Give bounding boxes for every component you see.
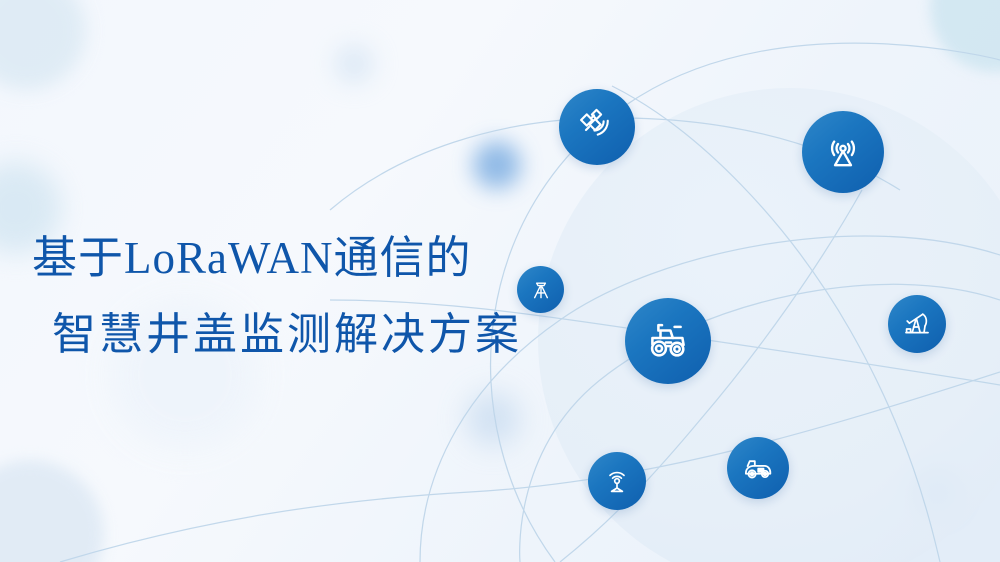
title-block: 基于LoRaWAN通信的 智慧井盖监测解决方案	[30, 228, 590, 366]
wireless-sensor-icon	[601, 465, 633, 497]
radio-tower-icon	[821, 130, 865, 174]
node-pumpjack[interactable]	[888, 295, 946, 353]
tractor-icon	[644, 317, 692, 365]
node-mower[interactable]	[727, 437, 789, 499]
node-antenna[interactable]	[802, 111, 884, 193]
node-sensor[interactable]	[588, 452, 646, 510]
title-line-2: 智慧井盖监测解决方案	[52, 304, 590, 366]
title-slide: 基于LoRaWAN通信的 智慧井盖监测解决方案	[0, 0, 1000, 562]
node-tractor[interactable]	[625, 298, 711, 384]
node-satellite[interactable]	[559, 89, 635, 165]
satellite-icon	[577, 107, 617, 147]
title-line-1: 基于LoRaWAN通信的	[32, 228, 590, 288]
robotic-mower-icon	[741, 451, 775, 485]
oil-pumpjack-icon	[901, 308, 933, 340]
